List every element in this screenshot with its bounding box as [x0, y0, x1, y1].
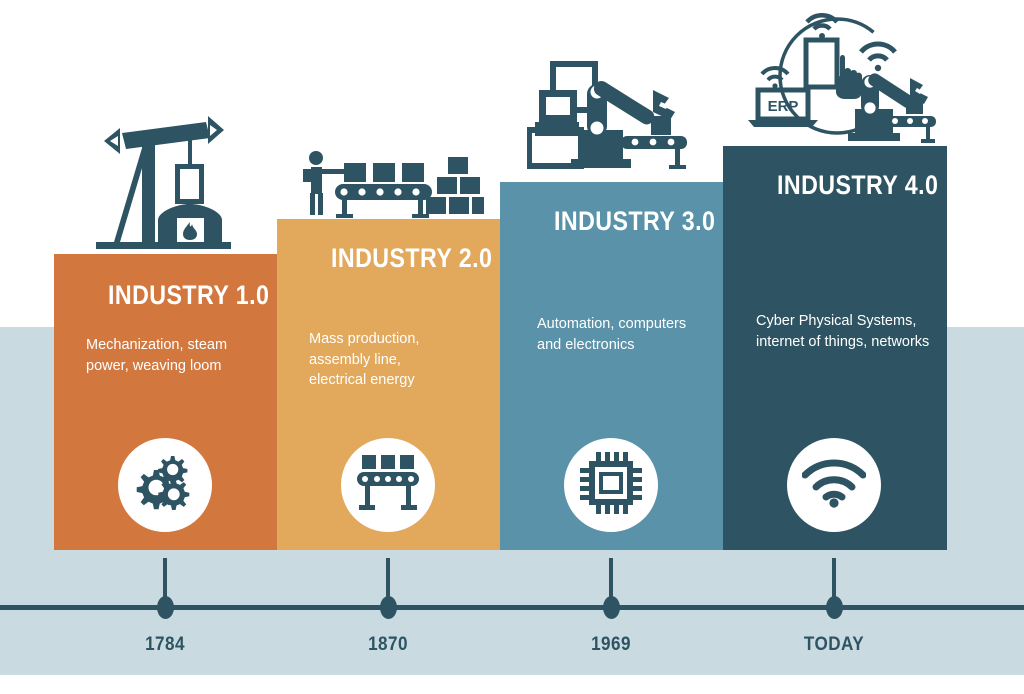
- stage-description-industry-4: Cyber Physical Systems, internet of thin…: [756, 311, 931, 352]
- timeline-node-today: [826, 596, 843, 619]
- robot-arm-computer-icon: [527, 60, 692, 175]
- stage-title-industry-3: INDUSTRY 3.0: [554, 206, 686, 237]
- stage-badge-industry-1: [112, 432, 218, 538]
- stage-description-industry-2: Mass production, assembly line, electric…: [309, 329, 485, 391]
- timeline-node-1969: [603, 596, 620, 619]
- stage-badge-industry-2: [335, 432, 441, 538]
- stage-title-industry-4: INDUSTRY 4.0: [777, 170, 909, 201]
- erp-label: ERP: [768, 98, 799, 115]
- timeline-node-1784: [157, 596, 174, 619]
- stage-description-industry-3: Automation, computers and electronics: [537, 314, 708, 355]
- stage-badge-industry-3: [558, 432, 664, 538]
- timeline-year-1: 1784: [93, 634, 237, 656]
- timeline-year-2: 1870: [316, 634, 460, 656]
- iot-network-icon: ERP: [742, 6, 942, 151]
- gears-icon: [134, 454, 196, 517]
- stage-description-industry-1: Mechanization, steam power, weaving loom: [86, 335, 262, 376]
- stage-title-industry-2: INDUSTRY 2.0: [331, 243, 463, 274]
- timeline-year-4: TODAY: [762, 634, 906, 656]
- industry-evolution-infographic: ERP: [0, 0, 1024, 694]
- microchip-icon: [580, 452, 642, 519]
- timeline-node-1870: [380, 596, 397, 619]
- timeline-year-3: 1969: [539, 634, 683, 656]
- stage-badge-industry-4: [781, 432, 887, 538]
- timeline-axis: [0, 605, 1024, 610]
- steam-engine-icon: [96, 112, 231, 257]
- wifi-icon: [802, 458, 866, 513]
- bottom-margin: [0, 675, 1024, 694]
- conveyor-belt-icon: [357, 455, 419, 516]
- assembly-line-worker-icon: [294, 150, 484, 225]
- stage-title-industry-1: INDUSTRY 1.0: [108, 280, 240, 311]
